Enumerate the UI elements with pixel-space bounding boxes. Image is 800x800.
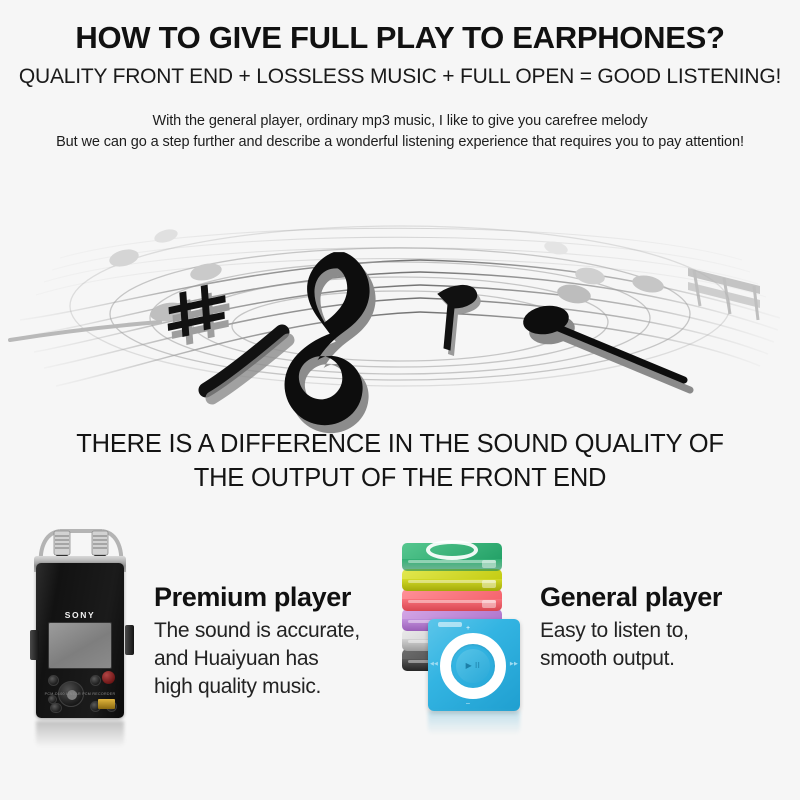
beamed-notes-icon xyxy=(688,268,760,320)
recorder-body: SONY PCM-D100 LINEAR PCM RECORDER xyxy=(36,563,124,718)
next-icon[interactable]: ▶▶ xyxy=(510,661,518,667)
page-subtitle: QUALITY FRONT END + LOSSLESS MUSIC + FUL… xyxy=(0,65,800,89)
recorder-reflection xyxy=(36,721,124,747)
premium-copy: Premium player The sound is accurate, an… xyxy=(154,525,360,700)
recorder-side-button-left[interactable] xyxy=(30,630,39,660)
ipod-slab-pink xyxy=(402,589,502,611)
sony-recorder-image: SONY PCM-D100 LINEAR PCM RECORDER xyxy=(22,525,140,730)
previous-icon[interactable]: ◀◀ xyxy=(430,661,438,667)
recorder-record-button[interactable] xyxy=(102,671,115,684)
recorder-model-text: PCM-D100 LINEAR PCM RECORDER xyxy=(36,692,124,696)
general-title: General player xyxy=(540,583,722,613)
volume-up-icon[interactable]: + xyxy=(466,625,470,632)
premium-title: Premium player xyxy=(154,583,360,613)
play-pause-icon[interactable]: ▶ II xyxy=(456,649,490,683)
header: HOW TO GIVE FULL PLAY TO EARPHONES? QUAL… xyxy=(0,0,800,154)
eighth-note-icon xyxy=(438,285,481,356)
general-copy: General player Easy to listen to, smooth… xyxy=(540,525,722,673)
ipod-stack-image: + – ◀◀ ▶▶ ▶ II xyxy=(400,525,530,730)
section-heading: THERE IS A DIFFERENCE IN THE SOUND QUALI… xyxy=(0,428,800,495)
lead-paragraph: With the general player, ordinary mp3 mu… xyxy=(0,111,800,155)
blue-ipod-shuffle: + – ◀◀ ▶▶ ▶ II xyxy=(428,619,520,711)
recorder-level-slider[interactable] xyxy=(50,703,62,713)
blue-ipod-clip xyxy=(438,622,462,627)
recorder-knob-1[interactable] xyxy=(48,675,59,686)
product-premium: SONY PCM-D100 LINEAR PCM RECORDER Premiu… xyxy=(22,525,360,730)
general-desc-line-2: smooth output. xyxy=(540,645,722,673)
ipod-reflection xyxy=(428,711,520,735)
music-notes-svg xyxy=(0,190,800,435)
general-desc-line-1: Easy to listen to, xyxy=(540,617,722,645)
sony-brand-label: SONY xyxy=(36,610,124,620)
lead-line-1: With the general player, ordinary mp3 mu… xyxy=(0,111,800,133)
musical-staff-illustration xyxy=(0,190,800,435)
green-ipod-click-wheel xyxy=(426,540,478,560)
lead-line-2: But we can go a step further and describ… xyxy=(0,132,800,154)
page-title: HOW TO GIVE FULL PLAY TO EARPHONES? xyxy=(0,22,800,55)
recorder-display xyxy=(48,622,112,669)
premium-desc-line-1: The sound is accurate, xyxy=(154,617,360,645)
volume-down-icon[interactable]: – xyxy=(466,700,470,707)
section-heading-line-1: THERE IS A DIFFERENCE IN THE SOUND QUALI… xyxy=(0,428,800,462)
premium-desc-line-2: and Huaiyuan has xyxy=(154,645,360,673)
ipod-slab-yellow xyxy=(402,569,502,591)
premium-desc-line-3: high quality music. xyxy=(154,673,360,701)
ipod-slab-green xyxy=(402,543,502,571)
recorder-side-button-right[interactable] xyxy=(125,625,134,655)
recorder-menu-button[interactable] xyxy=(90,675,101,686)
product-general: + – ◀◀ ▶▶ ▶ II General player Easy to li… xyxy=(400,525,722,730)
product-comparison: SONY PCM-D100 LINEAR PCM RECORDER Premiu… xyxy=(0,525,800,755)
section-heading-line-2: THE OUTPUT OF THE FRONT END xyxy=(0,462,800,496)
recorder-badge xyxy=(98,699,115,709)
